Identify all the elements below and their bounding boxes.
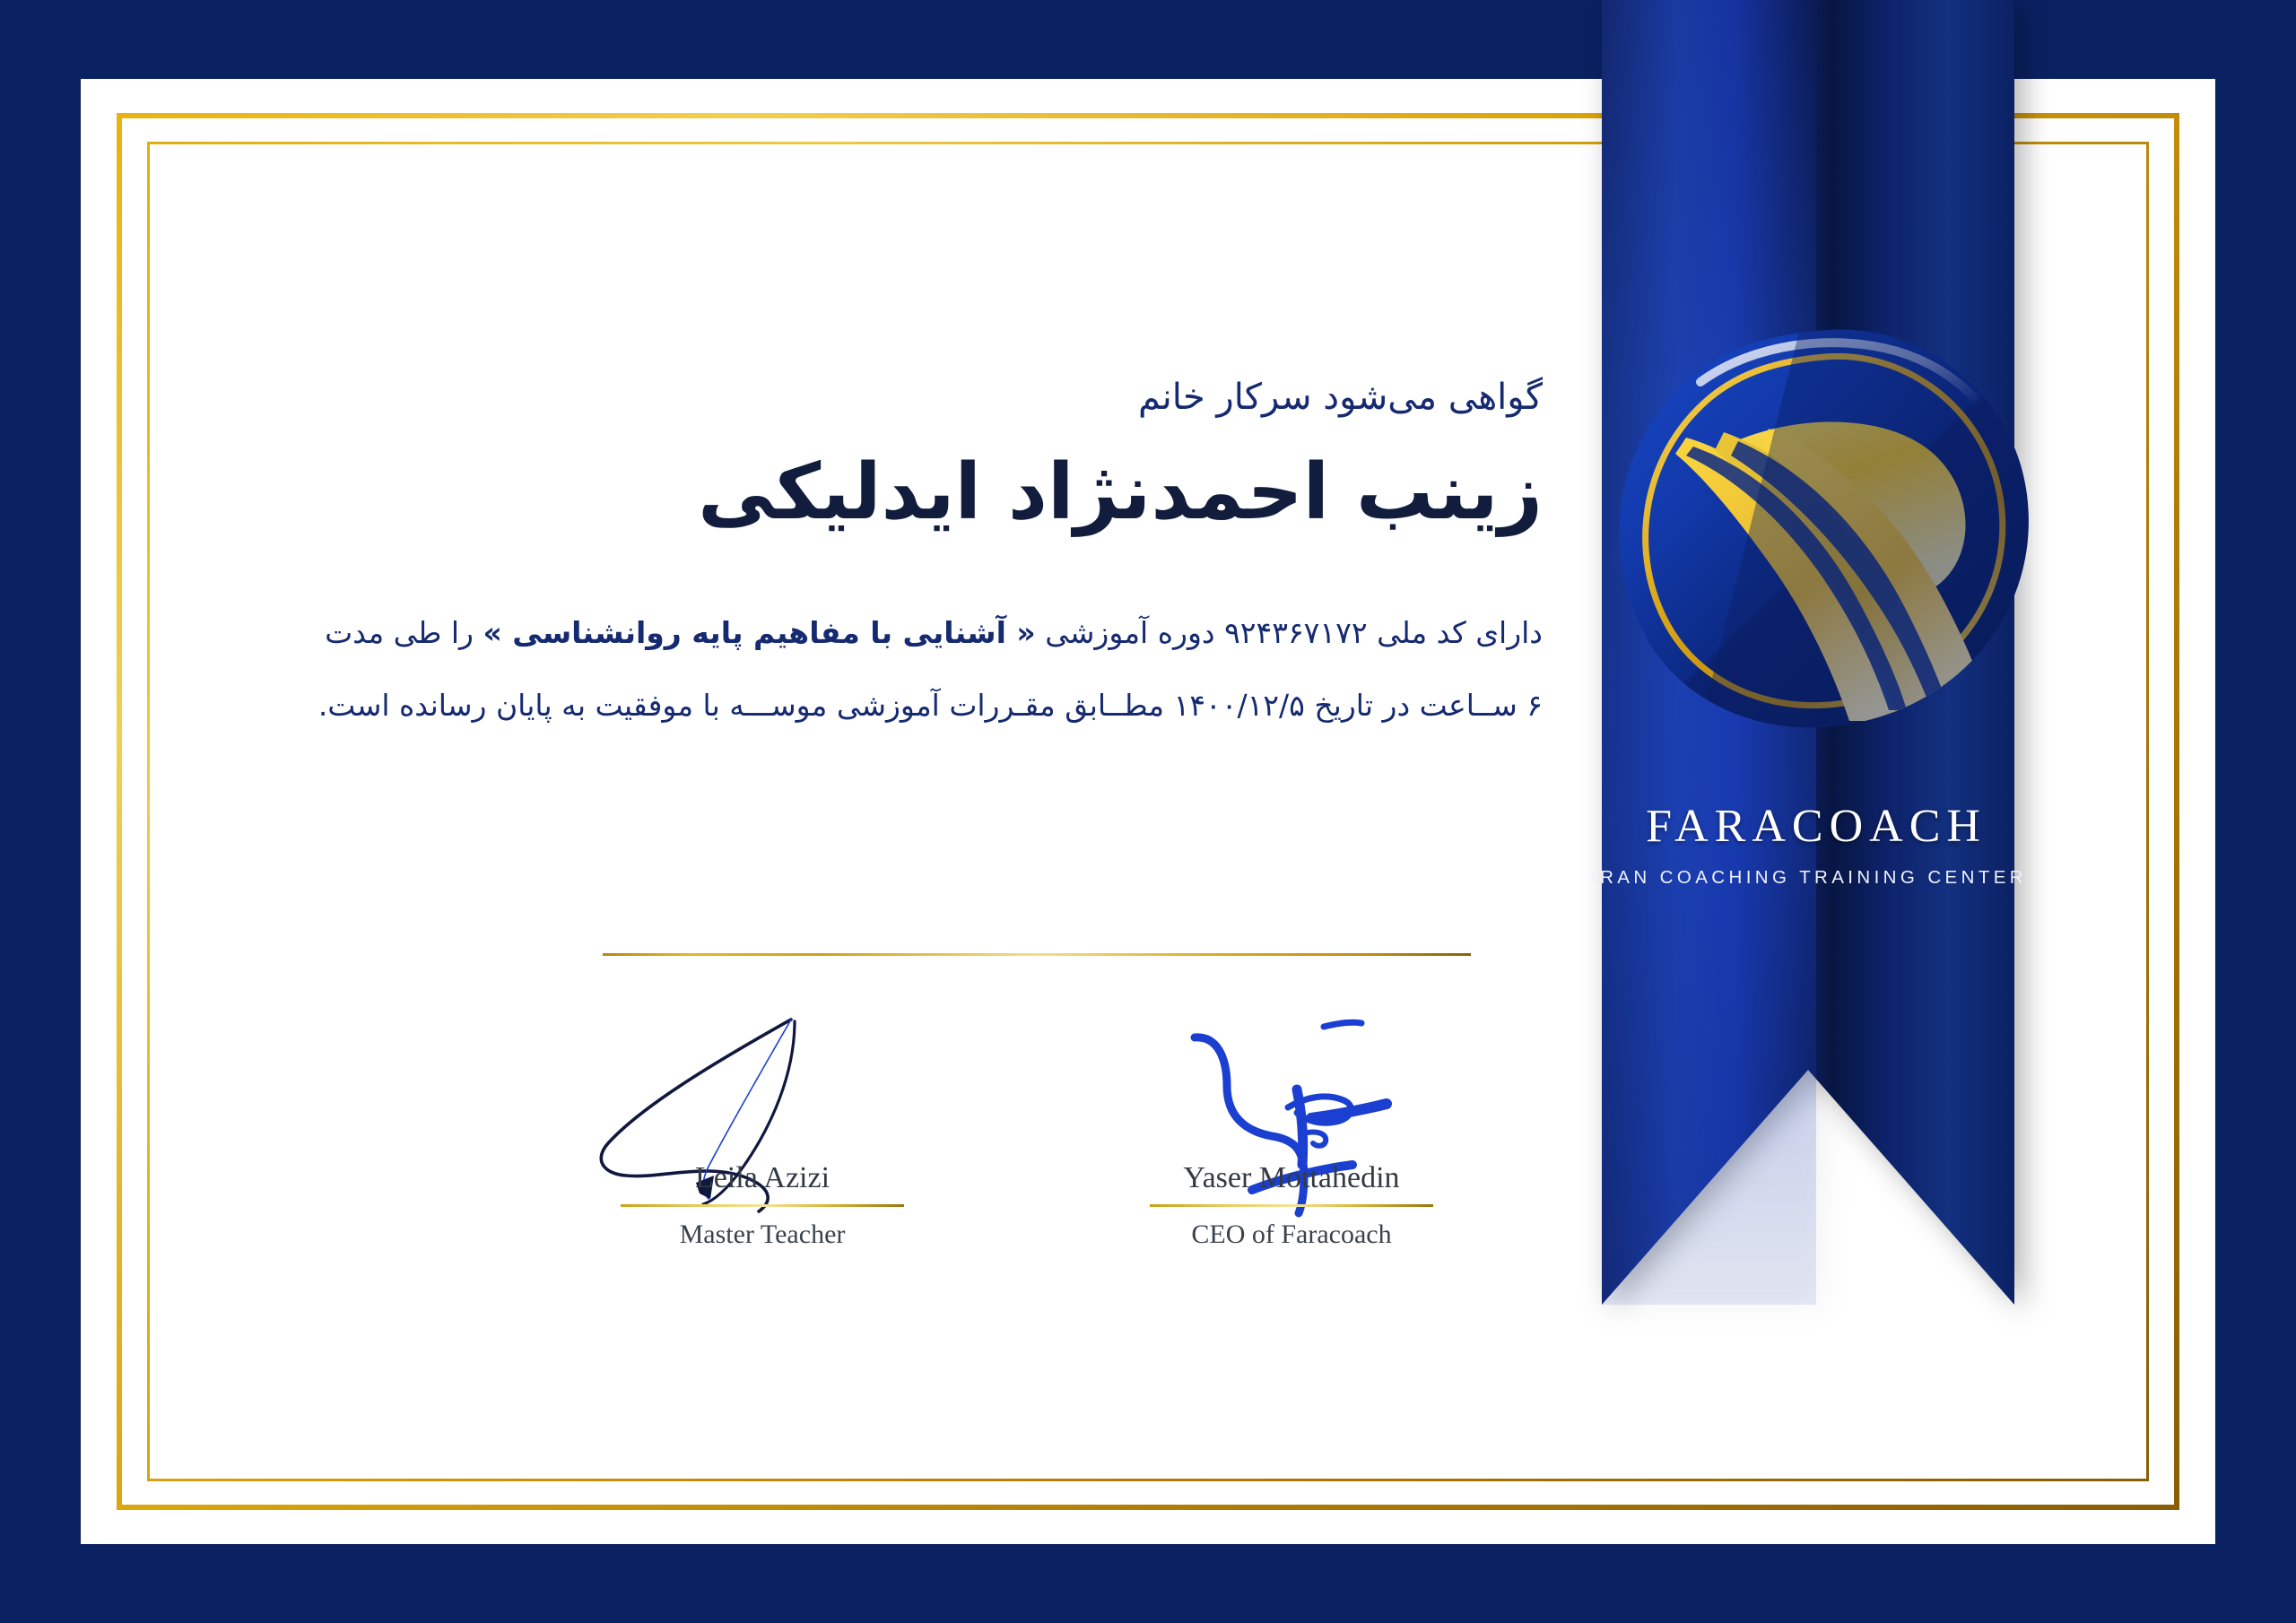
recipient-name: زینب احمدنژاد ایدلیکی [269,443,1543,542]
signature-rule [621,1204,904,1207]
signature-row: Leila Azizi Master Teacher Yaser Mottahe… [583,1036,1471,1269]
signature-rule [1150,1204,1433,1207]
signature-block-teacher: Leila Azizi Master Teacher [583,1036,942,1269]
salutation-line: گواهی می‌شود سرکار خانم [269,377,1543,418]
paragraph-line-2: ۶ ســاعت در تاریخ ۱۴۰۰/۱۲/۵ مطــابق مقـر… [273,670,1543,742]
brand-name: FARACOACH [1605,803,2027,852]
signature-block-ceo: Yaser Mottahedin CEO of Faracoach [1112,1036,1471,1269]
brand-tagline: IRAN COACHING TRAINING CENTER [1605,867,2027,889]
line1-suffix: را طی مدت [325,615,483,650]
paragraph-line-1: دارای کد ملی ۹۲۴۳۶۷۱۷۲ دوره آموزشی « آشن… [273,597,1543,670]
signature-role: CEO of Faracoach [1112,1219,1471,1250]
faracoach-logo-icon [1593,296,2050,753]
signature-role: Master Teacher [583,1219,942,1250]
signature-name: Leila Azizi [583,1161,942,1195]
signature-name: Yaser Mottahedin [1112,1161,1471,1195]
certificate-body: گواهی می‌شود سرکار خانم زینب احمدنژاد ای… [269,108,1543,742]
line1-prefix: دارای کد ملی ۹۲۴۳۶۷۱۷۲ دوره آموزشی [1036,615,1543,650]
brand-block: FARACOACH IRAN COACHING TRAINING CENTER [1605,803,2027,889]
certificate-document: FARACOACH IRAN COACHING TRAINING CENTER … [0,0,2296,1623]
certificate-paragraph: دارای کد ملی ۹۲۴۳۶۷۱۷۲ دوره آموزشی « آشن… [269,597,1543,742]
course-title: « آشنایی با مفاهیم پایه روانشناسی » [483,615,1036,650]
gold-divider-rule [603,953,1471,956]
